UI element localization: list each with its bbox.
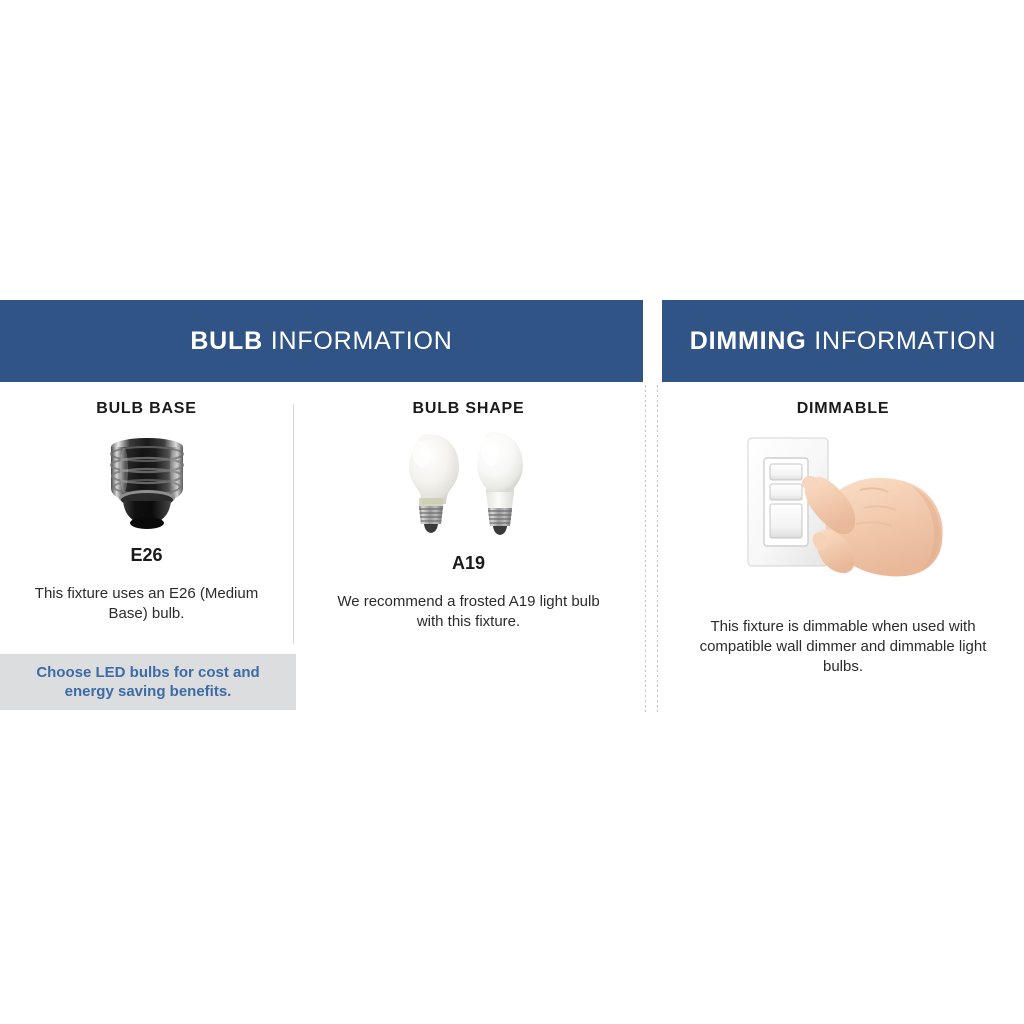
bulb-shape-title: BULB SHAPE: [294, 400, 643, 418]
bulb-shape-description: We recommend a frosted A19 light bulb wi…: [329, 592, 609, 632]
bulb-base-description: This fixture uses an E26 (Medium Base) b…: [32, 584, 262, 624]
panel-divider-dotted-right: [657, 385, 658, 715]
bulb-header-rest: INFORMATION: [263, 327, 453, 355]
dimming-header-rest: INFORMATION: [807, 327, 997, 355]
bulb-base-spec: E26: [0, 545, 293, 566]
bulb-header-strong: BULB: [190, 327, 263, 355]
section-bulb-base: BULB BASE: [0, 400, 293, 624]
dimmable-description: This fixture is dimmable when used with …: [693, 617, 993, 676]
section-dimmable: DIMMABLE: [662, 400, 1024, 676]
bulb-base-title: BULB BASE: [0, 400, 293, 418]
bulb-shape-spec: A19: [294, 553, 643, 574]
dimming-information-header-text: DIMMING INFORMATION: [690, 327, 996, 356]
panel-divider-dotted-left: [645, 385, 646, 715]
a19-bulbs-icon: [294, 424, 643, 545]
led-tip-text: Choose LED bulbs for cost and energy sav…: [23, 663, 273, 702]
bulb-information-header-text: BULB INFORMATION: [190, 327, 452, 356]
e26-socket-icon: [0, 424, 293, 539]
led-tip-box: Choose LED bulbs for cost and energy sav…: [0, 654, 296, 710]
hand-pressing-wall-dimmer-icon: [662, 424, 1024, 591]
bulb-information-header: BULB INFORMATION: [0, 300, 643, 382]
dimmable-title: DIMMABLE: [662, 400, 1024, 418]
dimming-header-strong: DIMMING: [690, 327, 807, 355]
dimming-information-header: DIMMING INFORMATION: [662, 300, 1024, 382]
section-bulb-shape: BULB SHAPE: [294, 400, 643, 632]
